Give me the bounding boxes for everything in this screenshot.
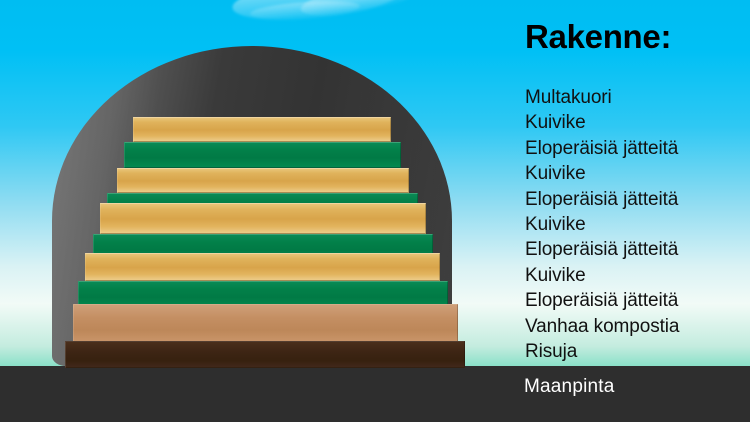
- page-title: Rakenne:: [525, 18, 671, 56]
- legend-item: Vanhaa kompostia: [525, 314, 750, 339]
- legend-item: Eloperäisiä jätteitä: [525, 237, 750, 262]
- compost-layer-multakuori: [133, 117, 391, 142]
- legend-item: Multakuori: [525, 85, 750, 110]
- compost-layer-kuivike-1: [124, 142, 401, 168]
- compost-layer-eloperaisia-4: [73, 304, 458, 342]
- legend-item: Kuivike: [525, 161, 750, 186]
- legend-item: Eloperäisiä jätteitä: [525, 136, 750, 161]
- compost-layer-eloperaisia-1: [117, 168, 409, 193]
- ground-label: Maanpinta: [524, 376, 615, 398]
- legend-item: Kuivike: [525, 212, 750, 237]
- legend-panel: Rakenne: MultakuoriKuivikeEloperäisiä jä…: [520, 0, 750, 366]
- legend-item: Kuivike: [525, 263, 750, 288]
- legend-item: Eloperäisiä jätteitä: [525, 288, 750, 313]
- legend-item: Kuivike: [525, 110, 750, 135]
- compost-layer-vanhaa-kompostia: [65, 341, 465, 368]
- compost-layer-eloperaisia-3: [85, 253, 440, 281]
- legend-item: Risuja: [525, 339, 750, 364]
- legend-list: MultakuoriKuivikeEloperäisiä jätteitäKui…: [525, 85, 750, 364]
- legend-item: Eloperäisiä jätteitä: [525, 187, 750, 212]
- ground-band: [0, 366, 750, 422]
- compost-layer-eloperaisia-2: [100, 203, 426, 234]
- illustration-canvas: Maanpinta Rakenne: MultakuoriKuivikeElop…: [0, 0, 750, 422]
